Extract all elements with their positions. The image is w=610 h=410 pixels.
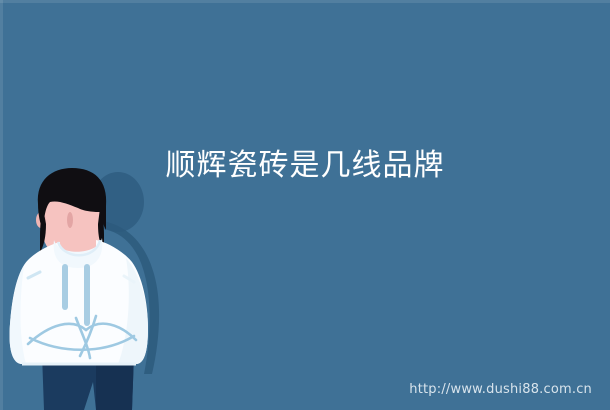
watermark-url: http://www.dushi88.com.cn [409, 382, 592, 398]
nose [67, 212, 73, 228]
person-illustration-svg [0, 168, 180, 410]
page-title: 顺辉瓷砖是几线品牌 [0, 146, 610, 186]
person-illustration [0, 168, 180, 410]
hoodie [10, 238, 149, 364]
top-edge-highlight [0, 0, 610, 3]
banner-image: 顺辉瓷砖是几线品牌 http://www.dushi88.com.cn [0, 0, 610, 410]
